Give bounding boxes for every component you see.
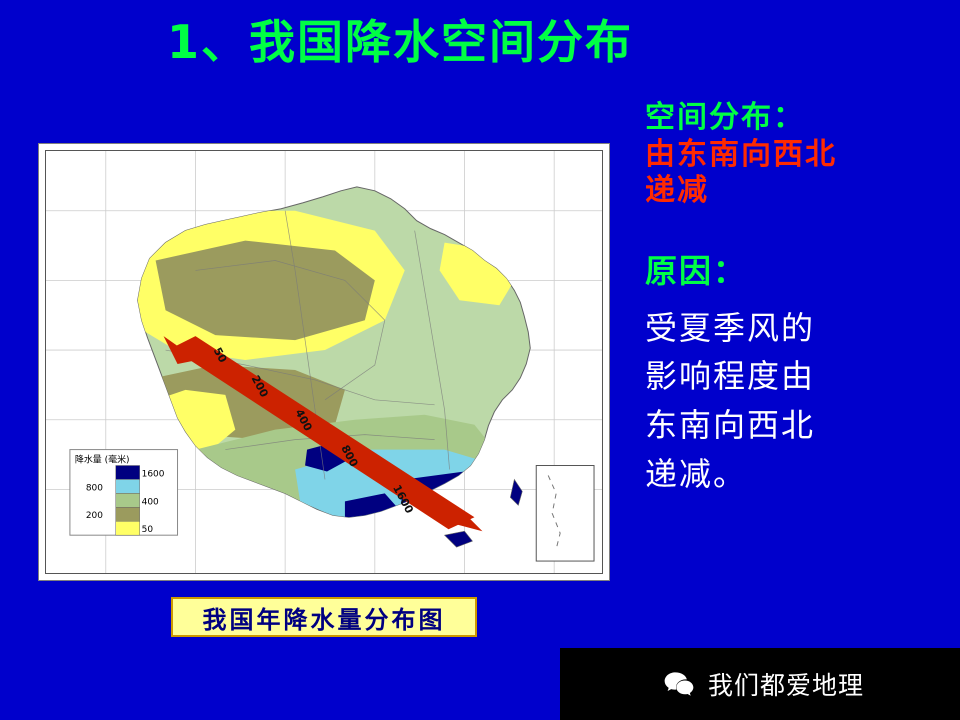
reason-line-2: 影响程度由	[645, 352, 945, 401]
reason-line-4: 递减。	[645, 450, 945, 499]
map-legend: 降水量 (毫米) 1600 800 400 200 50	[70, 450, 178, 536]
reason-line-1: 受夏季风的	[645, 304, 945, 353]
slide-root: 1、我国降水空间分布	[0, 0, 960, 720]
reason-body: 受夏季风的 影响程度由 东南向西北 递减。	[645, 304, 945, 499]
reason-line-3: 东南向西北	[645, 401, 945, 450]
svg-text:200: 200	[86, 511, 103, 521]
svg-text:400: 400	[142, 497, 159, 507]
svg-text:50: 50	[142, 525, 154, 535]
wechat-icon	[662, 667, 696, 701]
south-sea-inset	[536, 466, 594, 562]
china-precipitation-map: 50 200 400 800 1600 降水量 (毫米) 1600 800 40…	[46, 151, 602, 573]
map-caption: 我国年降水量分布图	[171, 597, 477, 637]
svg-text:800: 800	[86, 483, 103, 493]
svg-text:1600: 1600	[142, 469, 165, 479]
map-canvas: 50 200 400 800 1600 降水量 (毫米) 1600 800 40…	[45, 150, 603, 574]
spatial-distribution-value-line2: 递减	[645, 173, 945, 210]
watermark-text: 我们都爱地理	[708, 666, 864, 702]
spatial-distribution-value-line1: 由东南向西北	[645, 137, 945, 174]
page-title: 1、我国降水空间分布	[0, 6, 800, 72]
spatial-distribution-label: 空间分布：	[645, 100, 945, 137]
map-panel: 50 200 400 800 1600 降水量 (毫米) 1600 800 40…	[38, 143, 610, 581]
right-text-column: 空间分布： 由东南向西北 递减 原因： 受夏季风的 影响程度由 东南向西北 递减…	[645, 100, 945, 498]
watermark-bar: 我们都爱地理	[560, 648, 960, 720]
svg-text:降水量 (毫米): 降水量 (毫米)	[75, 454, 130, 466]
reason-label: 原因：	[645, 246, 945, 292]
